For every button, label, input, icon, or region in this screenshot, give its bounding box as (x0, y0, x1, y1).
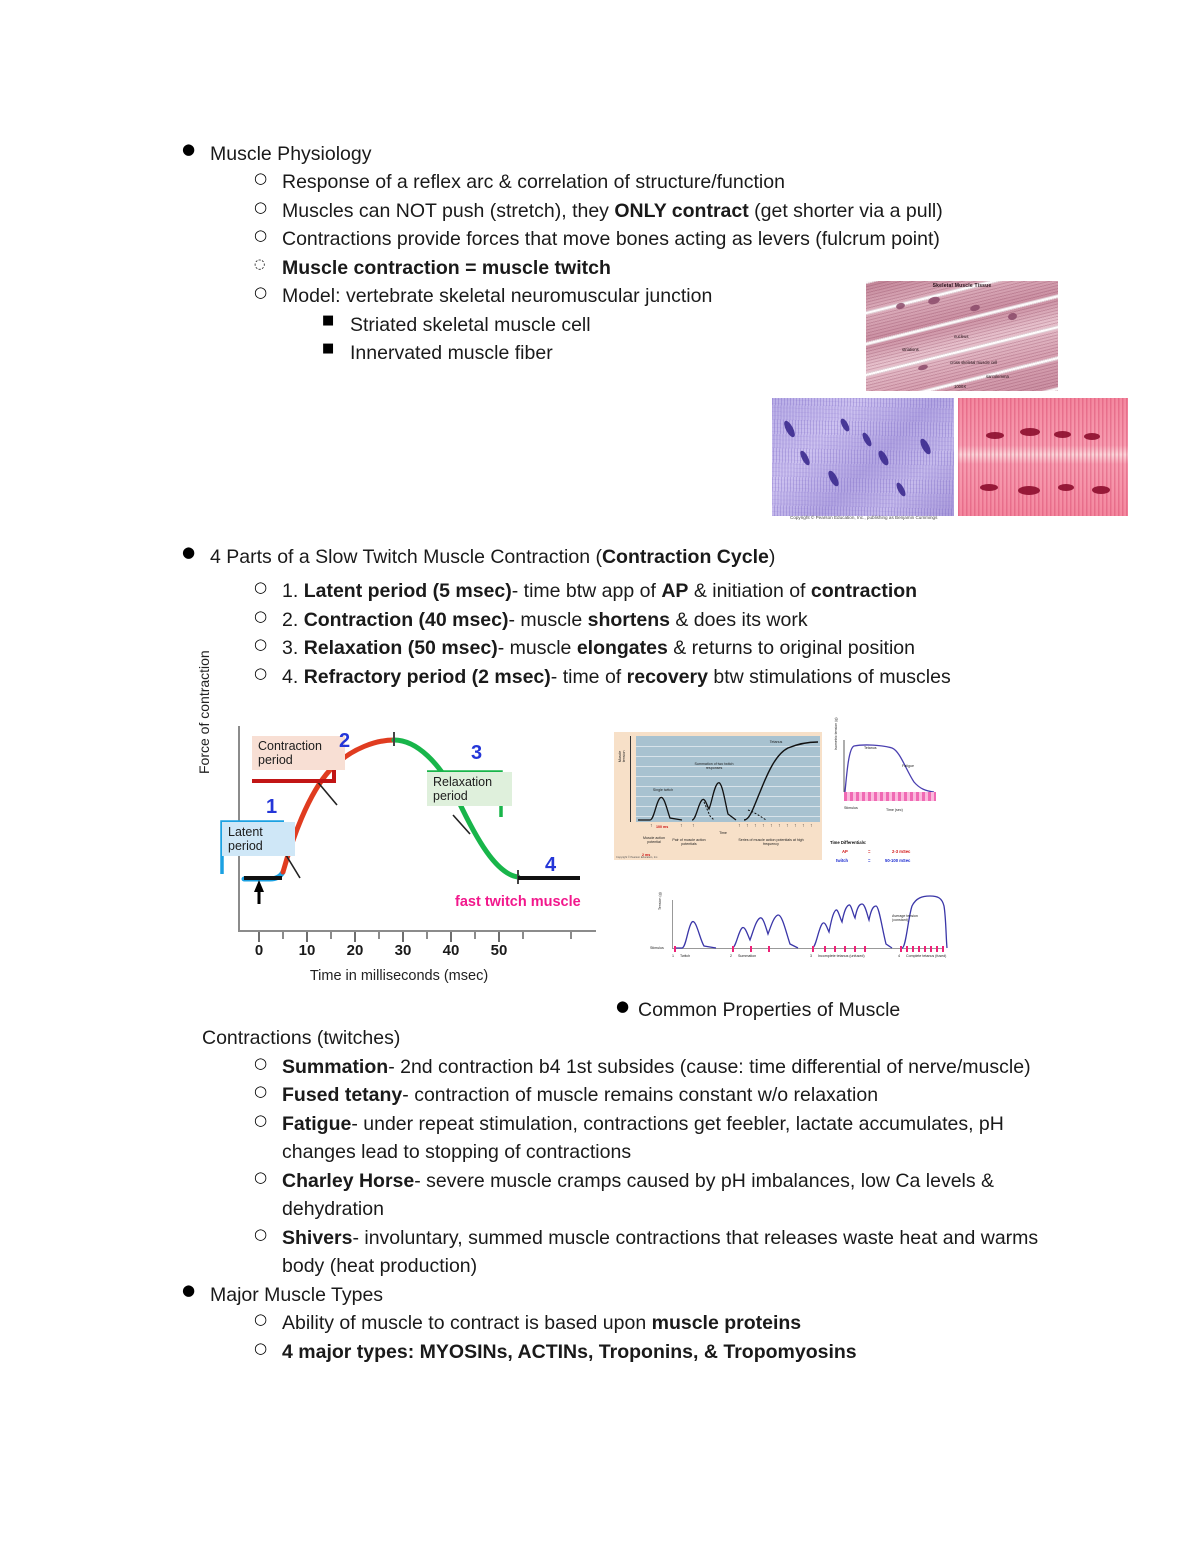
figure-time-differentials: Time Differentials: AP = 2-3 mSec twitch… (830, 840, 948, 876)
item-text-2: & returns to original position (668, 637, 915, 659)
phase-number-4: 4 (545, 854, 556, 877)
phase-number-1: 1 (266, 796, 277, 819)
list-item-text-post: (get shorter via a pull) (749, 200, 943, 222)
micrograph-caption: Skeletal Muscle Tissue (866, 283, 1058, 289)
item-bold-term-2: elongates (577, 637, 668, 659)
curve-summation-dashed (704, 802, 714, 820)
list-item-text-pre: Muscles can NOT push (stretch), they (282, 200, 614, 222)
list-item: ○ Shivers- involuntary, summed muscle co… (178, 1224, 1078, 1281)
bullet-circle-dotted-icon: ◌ (254, 256, 265, 275)
item-text-2: btw stimulations of muscles (708, 666, 951, 688)
muscle-twitch-chart: Force of contraction 0 10 20 30 40 50 (200, 722, 598, 984)
item-text-2: & does its work (670, 609, 808, 631)
definition-shivers: - involuntary, summed muscle contraction… (282, 1227, 1038, 1277)
item-number: 3. (282, 637, 304, 659)
bullet-disc-icon: ● (616, 996, 629, 1018)
time-differentials-twitch-eq: = (868, 858, 870, 863)
heading-text-part2: Contractions (twitches) (202, 1027, 400, 1049)
figure-y-axis-label: Tension (g) (658, 892, 662, 910)
copyright-notice: Copyright © Pearson Education, Inc., pub… (790, 515, 937, 520)
curve-tetanus-fatigue (845, 745, 934, 792)
curve-twitch (674, 922, 716, 948)
definition-fatigue: - under repeat stimulation, contractions… (282, 1113, 1004, 1163)
item-text-2: & initiation of (688, 580, 810, 602)
item-number: 4. (282, 666, 304, 688)
item-bold-term: Refractory period (2 msec) (304, 666, 551, 688)
list-item: ◌ Muscle contraction = muscle twitch (178, 254, 1078, 282)
bullet-circle-icon: ○ (254, 1309, 267, 1331)
bullet-circle-icon: ○ (254, 197, 267, 219)
list-item-label: Innervated muscle fiber (350, 342, 553, 364)
list-item-label: Contractions provide forces that move bo… (282, 228, 940, 250)
item-bold-term-2: shortens (588, 609, 670, 631)
stage-text-complete: Complete tetanus (fused) (906, 954, 958, 958)
bullet-circle-icon: ○ (254, 577, 267, 599)
bullet-disc-icon: ● (182, 542, 195, 564)
time-differentials-title: Time Differentials: (830, 840, 866, 845)
outline-section-contraction-cycle: ● 4 Parts of a Slow Twitch Muscle Contra… (178, 543, 1078, 691)
definition-summation: - 2nd contraction b4 1st subsides (cause… (388, 1056, 1030, 1078)
list-item: ○ Muscles can NOT push (stretch), they O… (178, 197, 1078, 225)
bullet-circle-icon: ○ (254, 1081, 267, 1103)
curve-summation (732, 915, 798, 948)
curve-summation (692, 783, 736, 820)
item-text: - muscle (509, 609, 588, 631)
micrograph-skeletal-muscle-longitudinal: Skeletal Muscle Tissue nucleus striation… (866, 281, 1058, 391)
figure-y-axis (630, 736, 631, 822)
term-fused-tetany: Fused tetany (282, 1084, 402, 1106)
item-bold-term: 4 major types (282, 1341, 408, 1363)
bullet-circle-icon: ○ (254, 282, 267, 304)
list-item: ○ Response of a reflex arc & correlation… (178, 168, 1078, 196)
figure-label-muscle-ap: Muscle action potential (640, 836, 668, 844)
bullet-circle-icon: ○ (254, 225, 267, 247)
figure-label-series-ap: Series of muscle action potentials at hi… (738, 838, 804, 846)
bullet-circle-icon: ○ (254, 1224, 267, 1246)
figure-annotation-average-tension: Average tension (constant) (892, 914, 922, 923)
micrograph-label-muscle-cell: cross skeletal muscle cell (950, 360, 997, 365)
item-bold-term-2: AP (661, 580, 688, 602)
term-charley-horse: Charley Horse (282, 1170, 414, 1192)
stimulus-bar (844, 792, 936, 801)
list-item: ○ 1. Latent period (5 msec)- time btw ap… (178, 577, 1078, 605)
item-bold-term-3: contraction (811, 580, 917, 602)
figure-x-axis-label: Time (714, 831, 732, 835)
list-item: ● Major Muscle Types (178, 1281, 1078, 1309)
stage-label-twitch: 1 (672, 954, 674, 958)
item-number: 1. (282, 580, 304, 602)
item-bold-term: Latent period (5 msec) (304, 580, 512, 602)
list-item: ● Common Properties of Muscle (178, 996, 1078, 1024)
item-text: - muscle (498, 637, 577, 659)
chart-x-tick-label: 30 (395, 942, 412, 959)
time-differentials-ap-eq: = (868, 849, 870, 854)
chart-x-tick-label: 40 (443, 942, 460, 959)
bullet-circle-icon: ○ (254, 1110, 267, 1132)
item-bold-term: muscle proteins (652, 1312, 802, 1334)
time-differentials-twitch-name: twitch (836, 858, 848, 863)
bullet-square-icon: ■ (322, 312, 334, 331)
curve-tetanus (744, 742, 818, 820)
definition-fused-tetany: - contraction of muscle remains constant… (402, 1084, 878, 1106)
list-item: ● 4 Parts of a Slow Twitch Muscle Contra… (178, 543, 830, 571)
figure-summation-tetanus: Tetanus Summation of two twitch response… (614, 732, 822, 860)
figure-tetanus-fatigue: Isometric tension (g) Tetanus Fatigue St… (830, 736, 942, 824)
chart-x-tick-label: 10 (299, 942, 316, 959)
label-box-relaxation-period: Relaxation period (427, 772, 512, 806)
time-differentials-ap-value: 2-3 mSec (892, 849, 910, 854)
item-text: : MYOSINs, ACTINs, Troponins, & Tropomyo… (408, 1341, 857, 1363)
bullet-circle-icon: ○ (254, 1338, 267, 1360)
list-item: ○ 4 major types: MYOSINs, ACTINs, Tropon… (178, 1338, 1078, 1366)
figure-tetanus-stages: Tension (g) Stimulus Average tension (co… (650, 888, 948, 970)
item-bold-term: Contraction (40 msec) (304, 609, 509, 631)
figure-label-stimulus: Stimulus (844, 806, 858, 810)
chart-x-tick-label: 20 (347, 942, 364, 959)
list-item-label: Muscle Physiology (210, 143, 371, 165)
heading-text-pre: 4 Parts of a Slow Twitch Muscle Contract… (210, 546, 602, 568)
stage-label-complete: 4 (898, 954, 900, 958)
micrograph-label-striations: striations (902, 347, 919, 352)
outline-section-common-properties: ● Common Properties of Muscle Contractio… (178, 996, 1078, 1366)
figure-y-axis-label: Isometric tension (g) (834, 717, 838, 750)
figure-copyright: Copyright © Pearson Education, Inc. (616, 856, 658, 859)
label-box-latent-period: Latent period (222, 822, 295, 856)
figure-label-pair-ap: Pair of muscle action potentials (672, 838, 706, 846)
chart-annotation-fast-twitch: fast twitch muscle (455, 894, 581, 910)
figure-plot-area: Tetanus Summation of two twitch response… (636, 736, 820, 822)
label-box-contraction-period: Contraction period (252, 736, 345, 770)
figure-label-fatigue: Fatigue (902, 764, 914, 768)
list-item-text-bold: ONLY contract (614, 200, 748, 222)
list-item-label: Striated skeletal muscle cell (350, 314, 591, 336)
list-item: ○ Fused tetany- contraction of muscle re… (178, 1081, 1078, 1109)
document-page: ● Muscle Physiology ○ Response of a refl… (0, 0, 1200, 1553)
item-number: 2. (282, 609, 304, 631)
heading-text-bold: Contraction Cycle (602, 546, 769, 568)
stage-label-summation: 2 (730, 954, 732, 958)
bullet-circle-icon: ○ (254, 168, 267, 190)
time-differentials-twitch-value: 50-100 mSec (885, 858, 910, 863)
list-item: ○ Summation- 2nd contraction b4 1st subs… (178, 1053, 1078, 1081)
list-item: ○ Ability of muscle to contract is based… (178, 1309, 1078, 1337)
list-item: ○ 3. Relaxation (50 msec)- muscle elonga… (178, 634, 1078, 662)
figure-label-stimulus: Stimulus (650, 946, 664, 950)
figure-label-tetanus: Tetanus (756, 740, 796, 744)
figure-x-axis-label: Time (sec) (886, 808, 903, 812)
list-item: ○ Contractions provide forces that move … (178, 225, 1078, 253)
micrograph-label-magnification: 1000X (954, 384, 966, 389)
list-item: ○ Charley Horse- severe muscle cramps ca… (178, 1167, 1078, 1224)
term-shivers: Shivers (282, 1227, 352, 1249)
phase-number-3: 3 (471, 742, 482, 765)
bullet-circle-icon: ○ (254, 1167, 267, 1189)
heading-continuation: Contractions (twitches) (178, 1024, 1078, 1052)
bullet-circle-icon: ○ (254, 606, 267, 628)
figure-label-tetanus: Tetanus (864, 746, 877, 750)
bullet-disc-icon: ● (182, 1280, 195, 1302)
chart-x-tick-label: 50 (491, 942, 508, 959)
curve-single-twitch (638, 797, 682, 820)
chart-x-axis-label: Time in milliseconds (msec) (200, 968, 598, 984)
micrograph-skeletal-muscle-purple (772, 398, 954, 516)
bullet-square-icon: ■ (322, 340, 334, 359)
time-differentials-ap-name: AP (842, 849, 848, 854)
figure-label-single-twitch: Single twitch (652, 788, 674, 792)
stage-label-incomplete: 3 (810, 954, 812, 958)
list-item-label: Muscle contraction = muscle twitch (282, 257, 611, 279)
micrograph-skeletal-muscle-pink (958, 398, 1128, 516)
list-item-label: Model: vertebrate skeletal neuromuscular… (282, 285, 712, 307)
micrograph-label-sarcolemma: sarcolemma (986, 374, 1009, 379)
figure-label-summation: Summation of two twitch responses (688, 762, 740, 770)
stage-text-twitch: Twitch (680, 954, 690, 958)
heading-text-post: ) (769, 546, 776, 568)
bullet-circle-icon: ○ (254, 663, 267, 685)
curve-incomplete-tetanus (812, 904, 892, 948)
item-text: - time of (551, 666, 627, 688)
chart-x-tick-label: 0 (255, 942, 263, 959)
list-item: ○ 4. Refractory period (2 msec)- time of… (178, 663, 1078, 691)
figure-y-axis-label: Muscle tension (618, 754, 626, 762)
heading-text-part1: Common Properties of Muscle (638, 999, 900, 1021)
phase-number-2: 2 (339, 730, 350, 753)
figure-time-mark-100ms: 100 ms (656, 825, 668, 829)
stage-text-incomplete: Incomplete tetanus (unfused) (818, 954, 876, 958)
list-item: ● Muscle Physiology (178, 140, 1078, 168)
micrograph-label-nucleus: nucleus (954, 334, 968, 339)
heading-major-muscle-types: Major Muscle Types (210, 1284, 383, 1306)
item-bold-term: Relaxation (50 msec) (304, 637, 498, 659)
item-text: - time btw app of (512, 580, 662, 602)
term-fatigue: Fatigue (282, 1113, 351, 1135)
term-summation: Summation (282, 1056, 388, 1078)
bullet-disc-icon: ● (182, 139, 195, 161)
list-item-label: Response of a reflex arc & correlation o… (282, 171, 785, 193)
item-bold-term-2: recovery (627, 666, 708, 688)
bullet-circle-icon: ○ (254, 634, 267, 656)
stage-text-summation: Summation (738, 954, 756, 958)
list-item: ○ 2. Contraction (40 msec)- muscle short… (178, 606, 1078, 634)
list-item: ○ Fatigue- under repeat stimulation, con… (178, 1110, 1078, 1167)
bullet-circle-icon: ○ (254, 1053, 267, 1075)
item-text: Ability of muscle to contract is based u… (282, 1312, 652, 1334)
